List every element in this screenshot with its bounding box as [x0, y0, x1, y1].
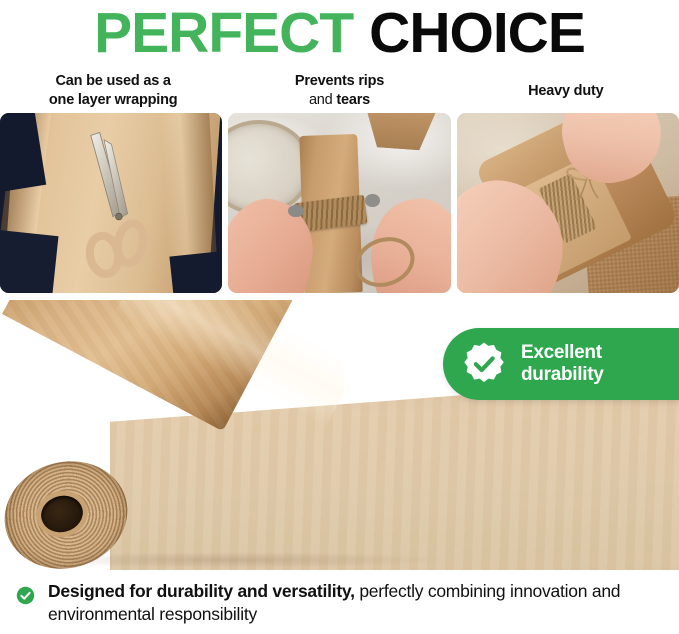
durability-badge: Excellent durability	[443, 328, 679, 400]
feature-photo-3	[457, 113, 679, 293]
kraft-roll-body	[2, 300, 344, 431]
feature-caption-3: Heavy duty	[453, 70, 679, 112]
feature-caption-2-and: and	[309, 92, 336, 108]
durability-badge-text: Excellent durability	[521, 342, 604, 387]
feature-caption-row: Can be used as a one layer wrapping Prev…	[0, 70, 679, 112]
durability-badge-line1: Excellent	[521, 342, 604, 364]
feature-caption-1: Can be used as a one layer wrapping	[0, 70, 226, 112]
durability-badge-line2: durability	[521, 364, 604, 386]
footer-text: Designed for durability and versatility,…	[48, 580, 657, 634]
feature-caption-2: Prevents rips and tears	[226, 70, 452, 112]
scissors-icon	[67, 131, 156, 279]
navy-background-bottom-right	[170, 250, 222, 293]
feature-caption-2-line2: and tears	[232, 91, 446, 110]
product-infographic: PERFECT CHOICE Can be used as a one laye…	[0, 0, 679, 634]
feature-photo-1	[0, 113, 222, 293]
feature-photo-2	[228, 113, 450, 293]
right-thumbnail	[365, 194, 379, 207]
page-title: PERFECT CHOICE	[0, 0, 679, 66]
feature-caption-2-line1: Prevents rips	[232, 72, 446, 91]
headline-word-choice: CHOICE	[369, 5, 585, 62]
footer-text-bold: Designed for durability and versatility,	[48, 581, 355, 601]
kraft-roll-group	[0, 300, 344, 570]
feature-caption-1-line2: one layer wrapping	[6, 91, 220, 110]
feature-caption-1-line1: Can be used as a	[6, 72, 220, 91]
feature-caption-3-line1: Heavy duty	[459, 82, 673, 101]
headline-word-perfect: PERFECT	[94, 5, 353, 62]
green-check-circle-icon	[16, 586, 35, 605]
verified-check-rosette-icon	[461, 341, 507, 387]
navy-background-bottom-left	[0, 228, 58, 293]
hero-drop-shadow	[20, 552, 440, 568]
feature-caption-2-tears: tears	[336, 92, 370, 108]
footer-statement: Designed for durability and versatility,…	[0, 578, 679, 634]
feature-photo-row	[0, 113, 679, 293]
